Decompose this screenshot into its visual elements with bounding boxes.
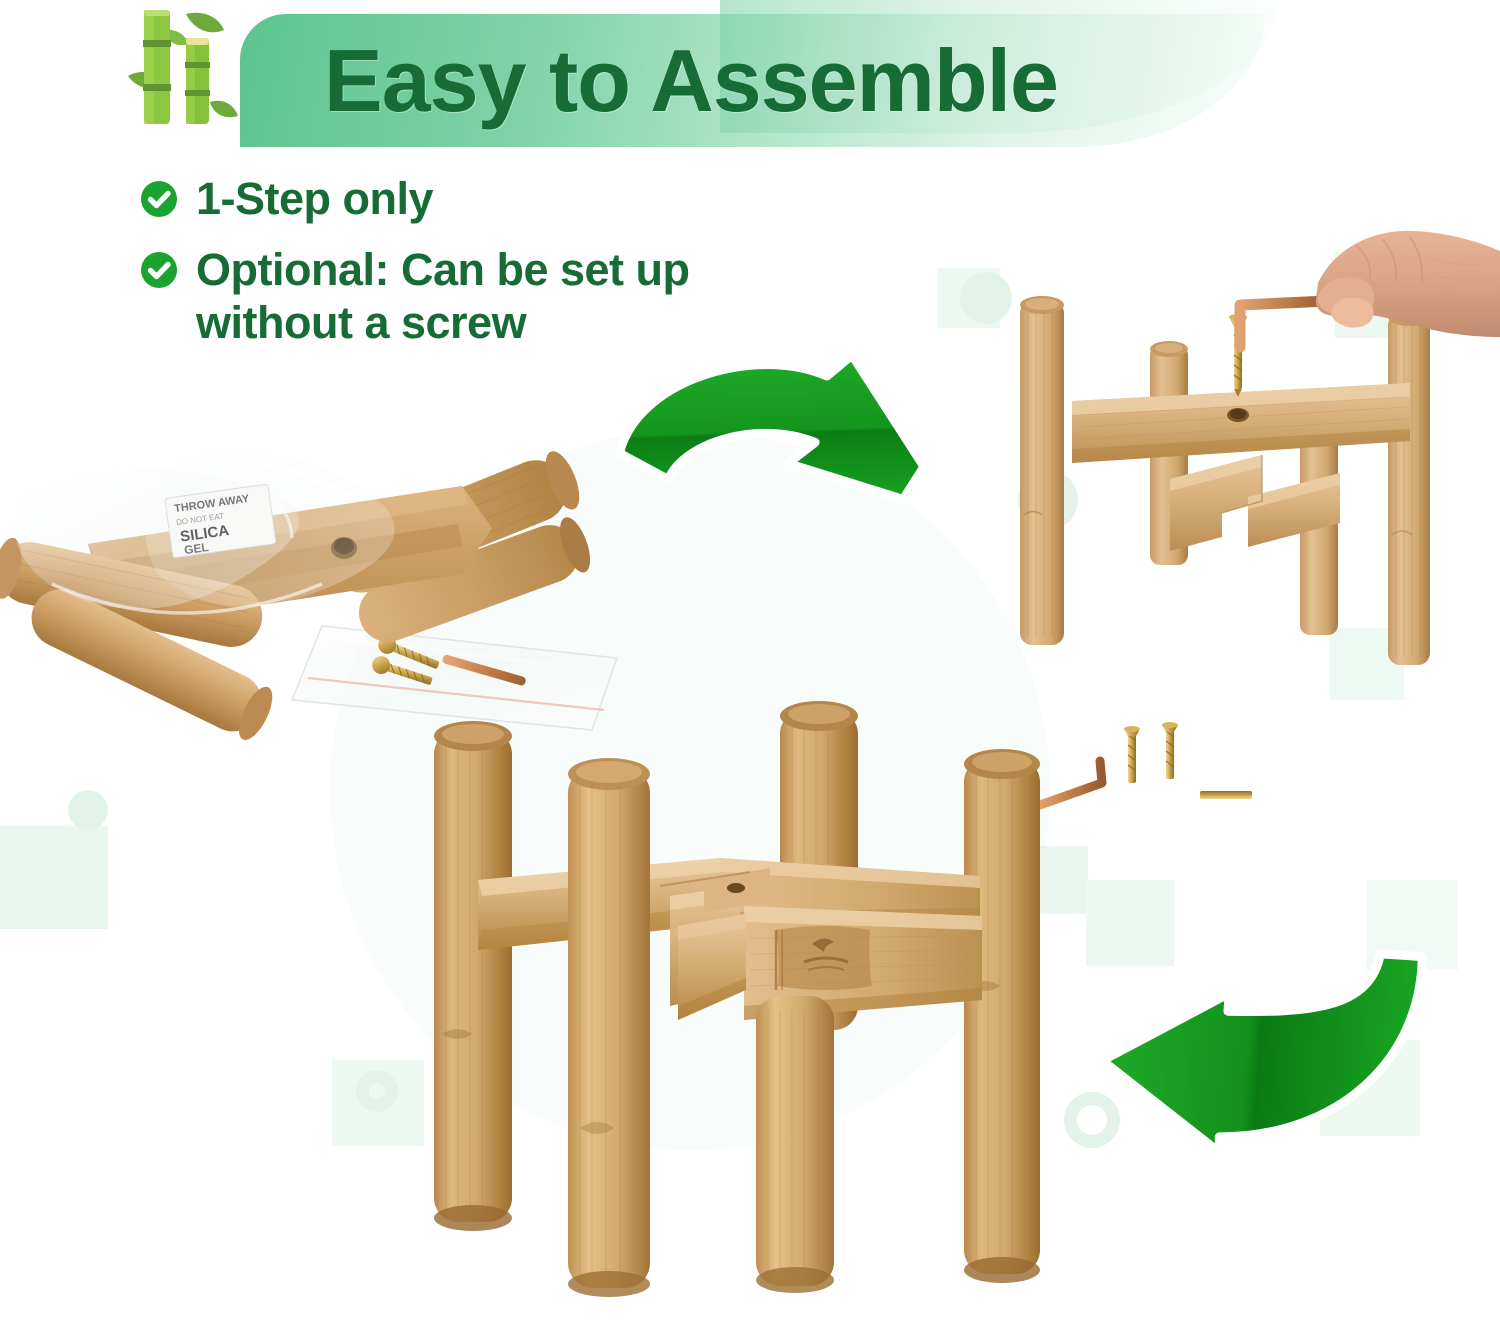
- feature-label-2: Optional: Can be set up without a screw: [196, 243, 690, 349]
- assembled-stand-photo: [420, 690, 1060, 1325]
- check-circle-icon: [140, 180, 178, 218]
- hand: [1316, 231, 1500, 337]
- brand-logo-engraving: [776, 926, 872, 990]
- list-item: 1-Step only: [140, 172, 920, 225]
- loose-hardware: [1040, 722, 1252, 805]
- screw-icon: [1124, 726, 1140, 783]
- screw-icon: [1162, 722, 1178, 779]
- feature-list: 1-Step only Optional: Can be set up with…: [140, 172, 920, 367]
- page-title: Easy to Assemble: [240, 14, 1265, 147]
- feature-label-1: 1-Step only: [196, 172, 433, 225]
- arrow-to-finished-stand: [1085, 955, 1420, 1155]
- stand-leg-held: [1388, 308, 1430, 665]
- bg-circle-2: [960, 272, 1012, 324]
- arrow-to-assembly-step: [605, 352, 935, 527]
- bg-square-1: [0, 826, 108, 929]
- stand-leg-right: [964, 749, 1040, 1283]
- stand-leg-front-right: [756, 996, 834, 1293]
- bg-ring-1: [356, 1070, 398, 1112]
- assembly-step-photo: [1010, 205, 1500, 845]
- bg-square-7: [1086, 880, 1174, 966]
- bg-square-2: [332, 1060, 424, 1146]
- stand-leg-back-left: [434, 721, 512, 1231]
- check-circle-icon: [140, 251, 178, 289]
- top-rail: [1072, 383, 1410, 463]
- header-banner: Easy to Assemble: [240, 14, 1265, 147]
- allen-key-icon: [1240, 301, 1328, 347]
- stand-leg-front-left: [568, 758, 650, 1297]
- bg-circle-1: [68, 790, 108, 830]
- stand-leg: [1020, 296, 1064, 645]
- bamboo-stalks-icon: [126, 6, 276, 148]
- list-item: Optional: Can be set up without a screw: [140, 243, 920, 349]
- bg-square-3: [938, 268, 1000, 328]
